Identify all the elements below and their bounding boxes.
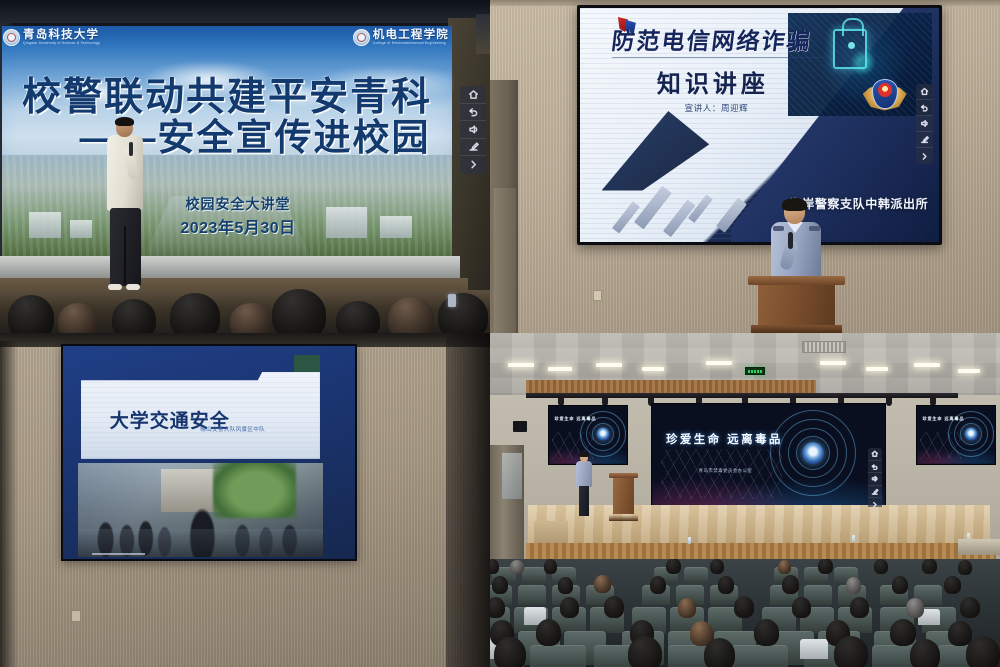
audience-phone — [448, 294, 456, 307]
slide-corner-tab — [294, 355, 320, 372]
college-logo: 机电工程学院 College of Electromechanical Engi… — [353, 29, 449, 46]
door — [490, 80, 518, 333]
right-shadow — [446, 333, 490, 667]
panel-top-right: 防范电信网络诈骗 知识讲座 宣讲人：周迎辉 海岸警察支队中韩派出所 — [490, 0, 1000, 333]
speaker-icon[interactable] — [916, 116, 933, 132]
slide-subtitle: 知识讲座 — [580, 64, 846, 99]
chevron-right-icon[interactable] — [460, 156, 486, 174]
edit-icon[interactable] — [868, 486, 882, 499]
chevron-right-icon[interactable] — [916, 148, 933, 164]
led-side-title: 珍爱生命 远离毒品 — [554, 416, 596, 422]
home-icon[interactable] — [460, 86, 486, 104]
stage-floor — [528, 505, 990, 547]
undo-icon[interactable] — [868, 461, 882, 474]
wood-trim — [526, 380, 816, 393]
college-name-cn: 机电工程学院 — [373, 30, 449, 42]
banner-title-line1: 校警联动共建平安青科 — [2, 78, 452, 119]
led-side-title: 珍爱生命 远离毒品 — [922, 416, 964, 422]
led-tv: 防范电信网络诈骗 知识讲座 宣讲人：周迎辉 海岸警察支队中韩派出所 — [577, 5, 942, 245]
slide-photo — [78, 463, 323, 557]
slide-title: 防范电信网络诈骗 — [610, 22, 873, 56]
led-screen-main: 珍爱生命 远离毒品 青岛市禁毒委员会办公室 — [651, 403, 886, 508]
slide-caption-bar — [92, 553, 145, 555]
panel-top-left: 青岛科技大学 Qingdao University of Science & T… — [0, 0, 490, 333]
microphone-icon — [788, 232, 793, 249]
police-officer-figure — [574, 453, 594, 518]
university-logo: 青岛科技大学 Qingdao University of Science & T… — [3, 29, 100, 46]
home-icon[interactable] — [868, 448, 882, 461]
panel-bottom-right: 珍爱生命 远离毒品 珍爱生命 远离毒品 青岛市禁毒委员会办公室 — [490, 333, 1000, 667]
ceiling — [0, 0, 490, 23]
side-door — [490, 445, 524, 565]
undo-icon[interactable] — [460, 104, 486, 122]
overlay-toolbar[interactable] — [460, 86, 486, 174]
left-shadow — [0, 341, 18, 667]
banner-title-line2: ——安全宣传进校园 — [2, 119, 452, 157]
chevron-right-icon[interactable] — [868, 498, 882, 508]
wall-outlet — [71, 610, 81, 622]
banner-subtitle: 校园安全大讲堂 — [24, 194, 452, 214]
seat-row — [490, 645, 1000, 667]
exit-sign — [745, 367, 765, 375]
police-badge-icon — [863, 74, 907, 118]
podium — [609, 473, 638, 521]
university-name-cn: 青岛科技大学 — [23, 30, 100, 42]
edit-icon[interactable] — [460, 139, 486, 157]
banner-date: 2023年5月30日 — [24, 214, 452, 238]
projection-screen: 大学交通安全 崂山交警大队风景区中队 — [61, 344, 357, 561]
college-seal-icon — [353, 29, 370, 46]
led-banner: 青岛科技大学 Qingdao University of Science & T… — [2, 26, 452, 256]
right-wall-upper — [476, 14, 490, 54]
university-name-en: Qingdao University of Science & Technolo… — [23, 42, 100, 46]
podium — [748, 276, 845, 333]
speaker-icon[interactable] — [460, 121, 486, 139]
undo-icon[interactable] — [916, 100, 933, 116]
slide: 防范电信网络诈骗 知识讲座 宣讲人：周迎辉 海岸警察支队中韩派出所 — [580, 8, 939, 242]
side-table — [958, 539, 1000, 555]
led-main-subtitle: 青岛市禁毒委员会办公室 — [699, 468, 753, 474]
led-screen-right: 珍爱生命 远离毒品 — [916, 405, 996, 465]
slide-divider — [612, 57, 820, 58]
edit-icon[interactable] — [916, 132, 933, 148]
microphone-icon — [129, 142, 133, 156]
banner-title: 校警联动共建平安青科 ——安全宣传进校园 — [2, 78, 452, 157]
home-icon[interactable] — [916, 84, 933, 100]
decorative-bars — [609, 125, 789, 233]
slide-subtitle: 崂山交警大队风景区中队 — [200, 425, 265, 433]
auditorium-seating — [490, 559, 1000, 667]
panel-bottom-left: 大学交通安全 崂山交警大队风景区中队 — [0, 333, 490, 667]
slide-presenter: 宣讲人：周迎辉 — [580, 102, 853, 114]
college-name-en: College of Electromechanical Engineering — [373, 42, 449, 46]
audience-silhouettes — [0, 275, 490, 333]
slide: 大学交通安全 崂山交警大队风景区中队 — [63, 346, 355, 559]
ring-graphic — [759, 410, 866, 497]
university-seal-icon — [3, 29, 20, 46]
banner-subtitle-block: 校园安全大讲堂 2023年5月30日 — [2, 194, 452, 238]
overlay-toolbar[interactable] — [916, 84, 933, 164]
wall-monitor — [513, 421, 527, 432]
overlay-toolbar[interactable] — [868, 448, 882, 508]
speaker-icon[interactable] — [868, 473, 882, 486]
wall-outlet — [593, 290, 602, 301]
speaker-figure — [104, 118, 148, 296]
photo-collage-grid: 青岛科技大学 Qingdao University of Science & T… — [0, 0, 1000, 667]
air-conditioner-vent — [802, 341, 846, 353]
led-main-title: 珍爱生命 远离毒品 — [666, 431, 783, 447]
